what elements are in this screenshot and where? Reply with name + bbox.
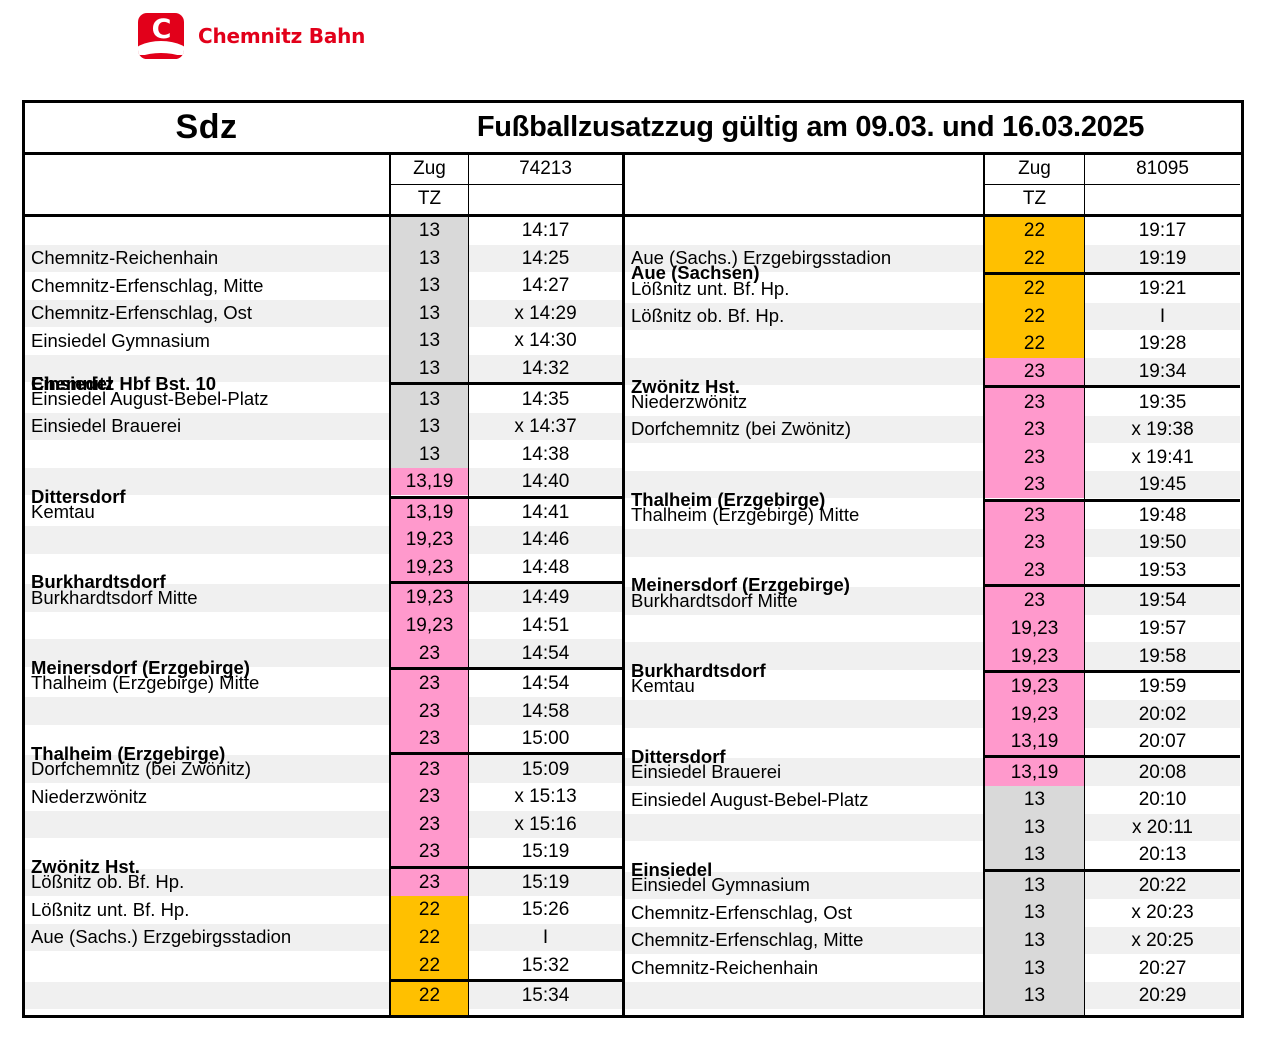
tz-cell: 22 [985,275,1084,303]
tz-cell: 22 [985,217,1084,245]
tz-value-return [1085,185,1240,215]
time-cell: 19:35 [1085,388,1240,416]
tz-cell: 13 [391,413,468,441]
tz-cell: 13 [391,272,468,300]
time-cell: 14:46 [469,526,622,554]
tz-cell: 22 [985,245,1084,273]
table-return: Aue (Sachsen)Aue (Sachs.) Erzgebirgsstad… [625,217,1241,1015]
time-cell: 20:13 [1085,841,1240,869]
station-name: Lößnitz ob. Bf. Hp. [31,869,387,897]
time-cell: 14:27 [469,272,622,300]
tz-cell: 13 [391,300,468,328]
tz-cell: 23 [985,416,1084,444]
time-cell: 14:58 [469,697,622,725]
tz-cell: 23 [985,358,1084,386]
time-cell: 20:02 [1085,700,1240,728]
tz-cell: 23 [391,869,468,897]
time-cell: 19:58 [1085,642,1240,670]
station-name: Kemtau [631,673,981,701]
zug-number-outbound: 74213 [469,155,622,184]
tz-column-outbound: 13131313131313131313,1913,1919,2319,2319… [391,217,469,1015]
time-cell: x 20:23 [1085,899,1240,927]
time-cell: 15:19 [469,838,622,866]
time-cell: x 14:37 [469,413,622,441]
time-cell: x 20:11 [1085,814,1240,842]
station-name: Niederzwönitz [631,388,981,416]
station-name: Lößnitz unt. Bf. Hp. [631,275,981,303]
tz-cell: 13 [391,217,468,245]
time-cell: 19:21 [1085,275,1240,303]
time-cell: 20:10 [1085,786,1240,814]
row-stripe [625,700,983,728]
tz-cell: 22 [985,330,1084,358]
station-name-bf: Chemnitz Hbf Bst. 10 [631,1009,981,1015]
station-name: Einsiedel August-Bebel-Platz [31,385,387,413]
time-cell: 20:29 [1085,982,1240,1010]
tz-cell: 13 [985,927,1084,955]
header-row-tz-outbound: TZ [391,185,622,215]
station-name: Niederzwönitz [31,783,387,811]
tz-value-outbound [469,185,622,215]
time-cell: 19:34 [1085,358,1240,386]
time-cell: x 15:13 [469,783,622,811]
time-cell: 20:27 [1085,954,1240,982]
time-cell: 19:17 [1085,217,1240,245]
time-cell: 14:17 [469,217,622,245]
station-name-bf: Aue (Sachsen) [31,1009,387,1015]
station-name: Lößnitz ob. Bf. Hp. [631,303,981,331]
tz-cell: 19,23 [985,700,1084,728]
station-name: Einsiedel Brauerei [31,413,387,441]
station-name: Chemnitz-Reichenhain [631,954,981,982]
timetable-body: Chemnitz Hbf Bst. 10Chemnitz-Reichenhain… [25,217,1241,1015]
time-cell: 19:59 [1085,673,1240,701]
time-cell: 14:25 [469,245,622,273]
chemnitz-bahn-logo-icon: C [138,13,184,59]
time-cell: x 19:38 [1085,416,1240,444]
station-name: Einsiedel Brauerei [631,758,981,786]
tz-cell: 23 [985,443,1084,471]
time-cell: 14:51 [469,612,622,640]
header-pane-return: Zug 81095 TZ [625,155,1241,214]
tz-cell: 23 [391,755,468,783]
tz-cell: 22 [985,303,1084,331]
time-cell: 20:22 [1085,872,1240,900]
time-cell: 14:38 [469,440,622,468]
time-cell: 14:48 [469,554,622,582]
tz-cell: 22 [391,924,468,952]
station-name: Chemnitz-Erfenschlag, Mitte [31,272,387,300]
time-cell: 15:37 [469,1009,622,1015]
time-cell: 15:09 [469,755,622,783]
time-cell: 14:32 [469,355,622,383]
tz-cell: 13 [985,786,1084,814]
tz-cell: 13,19 [391,468,468,496]
row-stripe [25,811,389,839]
time-cell: 19:28 [1085,330,1240,358]
time-cell: 14:35 [469,385,622,413]
time-cell: 19:54 [1085,587,1240,615]
header-stack-outbound: Zug 74213 TZ [391,155,622,214]
station-name: Thalheim (Erzgebirge) Mitte [631,502,981,530]
time-cell: x 19:41 [1085,443,1240,471]
time-column-return: 19:1719:1919:21I19:2819:3419:35x 19:38x … [1085,217,1240,1015]
tz-cell: 23 [985,529,1084,557]
tz-cell: 13 [985,954,1084,982]
tz-cell: 19,23 [391,612,468,640]
time-cell: x 20:25 [1085,927,1240,955]
tz-cell: 19,23 [985,673,1084,701]
time-cell: 15:34 [469,982,622,1010]
time-cell: 14:54 [469,639,622,667]
tz-cell: 19,23 [985,642,1084,670]
time-cell: 20:07 [1085,728,1240,756]
station-name: Aue (Sachs.) Erzgebirgsstadion [631,245,981,273]
time-cell: 14:49 [469,584,622,612]
time-cell: 15:26 [469,896,622,924]
header-pane-outbound: Zug 74213 TZ [25,155,625,214]
tz-cell: 23 [985,388,1084,416]
page-title: Fußballzusatzzug gültig am 09.03. und 16… [388,103,1241,152]
time-cell: x 15:16 [469,811,622,839]
row-stripe [25,697,389,725]
time-cell: 14:41 [469,499,622,527]
tz-cell: 13 [985,872,1084,900]
time-cell: 19:19 [1085,245,1240,273]
header-station-spacer-outbound [25,155,391,214]
tz-cell: 13 [985,899,1084,927]
tz-cell: 13 [391,355,468,383]
tz-cell: 13 [391,385,468,413]
station-column-outbound: Chemnitz Hbf Bst. 10Chemnitz-Reichenhain… [25,217,391,1015]
time-cell: 15:00 [469,725,622,753]
tz-cell: 13 [391,245,468,273]
row-stripe [25,526,389,554]
tz-cell: 22 [391,896,468,924]
tz-cell: 23 [391,783,468,811]
station-name: Burkhardtsdorf Mitte [31,584,387,612]
tz-cell: 23 [391,639,468,667]
time-cell: 15:32 [469,951,622,979]
station-name: Dorfchemnitz (bei Zwönitz) [31,755,387,783]
tz-cell: 22 [391,982,468,1010]
tz-cell: 23 [985,471,1084,499]
row-stripe [625,814,983,842]
zug-label-return: Zug [985,155,1085,184]
sdz-label: Sdz [25,103,388,152]
zug-number-return: 81095 [1085,155,1240,184]
tz-cell: 23 [985,557,1084,585]
tz-cell: 13,19 [391,499,468,527]
tz-cell: 23 [391,838,468,866]
tz-cell: 13,19 [985,758,1084,786]
time-cell: 20:08 [1085,758,1240,786]
tz-cell: 13 [985,982,1084,1010]
brand-name: Chemnitz Bahn [198,24,365,48]
header-row-tz-return: TZ [985,185,1240,215]
zug-label-outbound: Zug [391,155,469,184]
station-name: Kemtau [31,499,387,527]
time-cell: 19:50 [1085,529,1240,557]
time-cell: 19:45 [1085,471,1240,499]
time-cell: x 14:29 [469,300,622,328]
station-name: Lößnitz unt. Bf. Hp. [31,896,387,924]
table-outbound: Chemnitz Hbf Bst. 10Chemnitz-Reichenhain… [25,217,625,1015]
station-name: Einsiedel August-Bebel-Platz [631,786,981,814]
header-station-spacer-return [625,155,985,214]
tz-cell: 23 [391,811,468,839]
time-cell: 20:37 [1085,1009,1240,1015]
station-name: Thalheim (Erzgebirge) Mitte [31,670,387,698]
tz-cell: 13 [391,440,468,468]
tz-label-outbound: TZ [391,185,469,215]
time-column-outbound: 14:1714:2514:27x 14:29x 14:3014:3214:35x… [469,217,622,1015]
tz-cell: 19,23 [391,554,468,582]
station-name: Einsiedel Gymnasium [31,327,387,355]
time-cell: 19:57 [1085,615,1240,643]
tz-cell: 23 [391,725,468,753]
brand-header: C Chemnitz Bahn [138,13,365,59]
time-cell: 19:48 [1085,502,1240,530]
time-cell: I [1085,303,1240,331]
header-stack-return: Zug 81095 TZ [985,155,1240,214]
time-cell: 14:40 [469,468,622,496]
station-name: Chemnitz-Reichenhain [31,245,387,273]
tz-label-return: TZ [985,185,1085,215]
station-name: Chemnitz-Erfenschlag, Mitte [631,927,981,955]
column-header-band: Zug 74213 TZ Zug 81095 TZ [25,155,1241,217]
tz-cell: 13,19 [985,728,1084,756]
tz-cell: 13 [391,327,468,355]
title-band: Sdz Fußballzusatzzug gültig am 09.03. un… [25,103,1241,155]
tz-cell: 23 [391,670,468,698]
tz-cell: 13 [985,1009,1084,1015]
header-row-zug-outbound: Zug 74213 [391,155,622,185]
tz-cell: 19,23 [391,526,468,554]
tz-cell: 23 [391,697,468,725]
time-cell: 15:19 [469,869,622,897]
tz-cell: 23 [985,502,1084,530]
tz-cell: 22 [391,1009,468,1015]
tz-cell: 22 [391,951,468,979]
station-column-return: Aue (Sachsen)Aue (Sachs.) Erzgebirgsstad… [625,217,985,1015]
row-stripe [625,982,983,1010]
row-stripe [625,529,983,557]
tz-cell: 19,23 [985,615,1084,643]
station-name: Chemnitz-Erfenschlag, Ost [31,300,387,328]
station-name: Dorfchemnitz (bei Zwönitz) [631,416,981,444]
tz-column-return: 222222222223232323232323232319,2319,2319… [985,217,1085,1015]
row-stripe [25,982,389,1010]
time-cell: 14:54 [469,670,622,698]
station-name: Einsiedel Gymnasium [631,872,981,900]
station-name: Aue (Sachs.) Erzgebirgsstadion [31,924,387,952]
station-name: Burkhardtsdorf Mitte [631,587,981,615]
tz-cell: 13 [985,841,1084,869]
station-name: Chemnitz-Erfenschlag, Ost [631,899,981,927]
time-cell: 19:53 [1085,557,1240,585]
header-row-zug-return: Zug 81095 [985,155,1240,185]
timetable-sheet: Sdz Fußballzusatzzug gültig am 09.03. un… [22,100,1244,1018]
tz-cell: 13 [985,814,1084,842]
time-cell: x 14:30 [469,327,622,355]
time-cell: I [469,924,622,952]
tz-cell: 23 [985,587,1084,615]
tz-cell: 19,23 [391,584,468,612]
